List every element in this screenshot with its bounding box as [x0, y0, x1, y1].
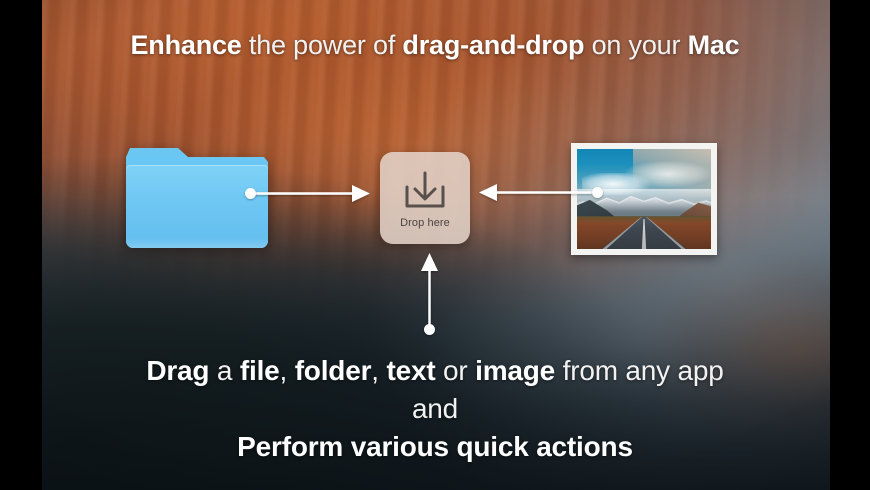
headline-part-4: on your	[584, 30, 687, 60]
download-arrow-icon	[402, 170, 448, 212]
drop-zone-label: Drop here	[400, 217, 450, 229]
bottom-line1-part-8: or	[435, 355, 475, 386]
bottom-line1-part-2: a	[209, 355, 240, 386]
folder-front-panel	[126, 165, 268, 248]
bottom-line1-part-5: folder	[295, 355, 372, 386]
bottom-line1-part-3: file	[240, 355, 280, 386]
bottom-line1-part-4: ,	[280, 355, 295, 386]
anchor-dot-photo	[592, 187, 603, 198]
bottom-copy-line-2: and	[0, 390, 870, 428]
letterbox-bar-right	[830, 0, 870, 490]
headline-part-5: Mac	[688, 30, 740, 60]
bottom-line1-part-9: image	[475, 355, 555, 386]
promo-slide: Enhance the power of drag-and-drop on yo…	[0, 0, 870, 490]
photo-thumbnail[interactable]	[571, 143, 717, 255]
headline-part-2: the power of	[242, 30, 403, 60]
bottom-line1-part-1: Drag	[146, 355, 209, 386]
photo-image	[577, 149, 711, 249]
bottom-copy-line-1: Drag a file, folder, text or image from …	[0, 352, 870, 390]
headline: Enhance the power of drag-and-drop on yo…	[0, 28, 870, 62]
drop-zone-panel[interactable]: Drop here	[380, 152, 470, 244]
bottom-line1-part-6: ,	[371, 355, 386, 386]
bottom-copy-line-3: Perform various quick actions	[0, 428, 870, 466]
bottom-line1-part-7: text	[386, 355, 435, 386]
headline-part-3: drag-and-drop	[402, 30, 584, 60]
bottom-copy: Drag a file, folder, text or image from …	[0, 352, 870, 466]
bottom-line1-part-10: from any app	[555, 355, 724, 386]
anchor-dot-folder	[245, 188, 256, 199]
anchor-dot-bottom	[424, 324, 435, 335]
letterbox-bar-left	[0, 0, 42, 490]
headline-part-1: Enhance	[130, 30, 241, 60]
